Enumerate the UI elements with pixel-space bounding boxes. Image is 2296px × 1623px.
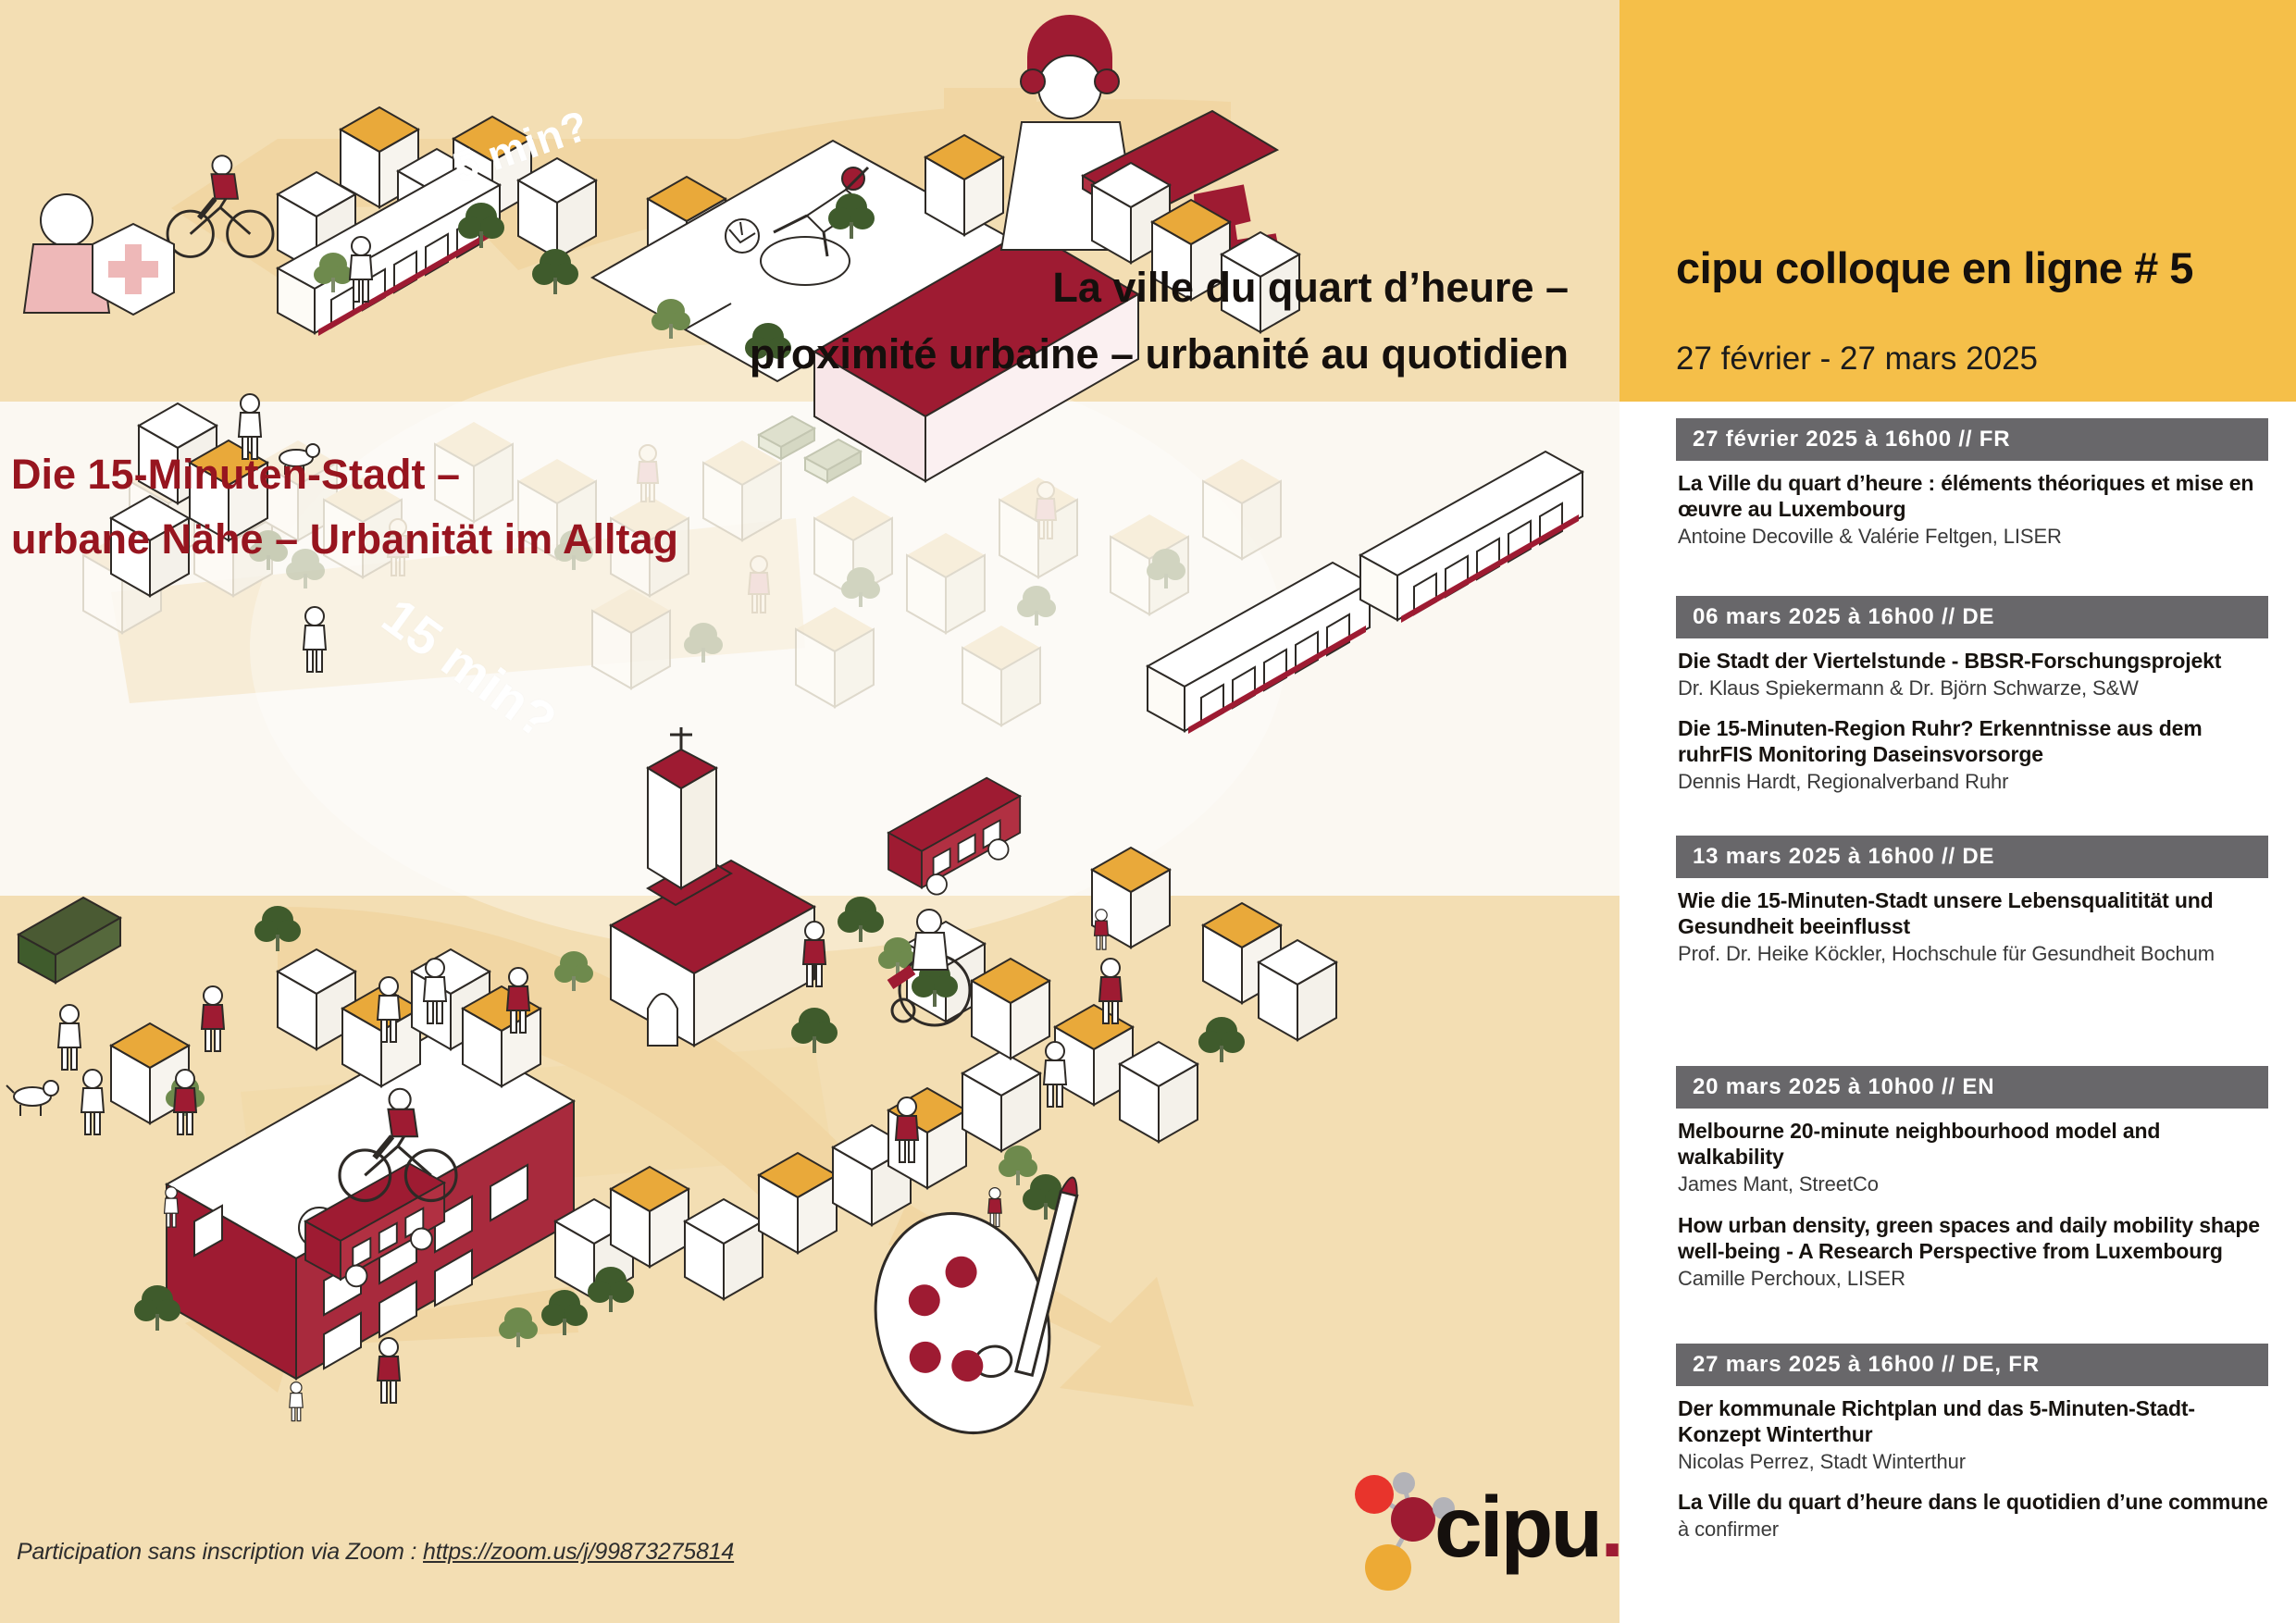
talk-item: Der kommunale Richtplan und das 5-Minute… bbox=[1678, 1395, 2268, 1475]
talk-title: Melbourne 20-minute neighbourhood model … bbox=[1678, 1118, 2268, 1170]
talk-item: Wie die 15-Minuten-Stadt unsere Lebensqu… bbox=[1678, 887, 2268, 967]
cipu-wordmark-name: cipu bbox=[1434, 1479, 1600, 1575]
talk-title: How urban density, green spaces and dail… bbox=[1678, 1212, 2268, 1264]
talk-item: Die 15-Minuten-Region Ruhr? Erkenntnisse… bbox=[1678, 715, 2268, 795]
talk-title: Die 15-Minuten-Region Ruhr? Erkenntnisse… bbox=[1678, 715, 2268, 767]
talk-list: Wie die 15-Minuten-Stadt unsere Lebensqu… bbox=[1676, 878, 2268, 967]
session-block: 20 mars 2025 à 10h00 // ENMelbourne 20-m… bbox=[1676, 1066, 2268, 1343]
session-date-bar: 27 mars 2025 à 16h00 // DE, FR bbox=[1676, 1344, 2268, 1386]
talk-item: La Ville du quart d’heure : éléments thé… bbox=[1678, 470, 2268, 550]
talk-list: La Ville du quart d’heure : éléments thé… bbox=[1676, 461, 2268, 550]
session-date-bar: 27 février 2025 à 16h00 // FR bbox=[1676, 418, 2268, 461]
talk-speaker: Camille Perchoux, LISER bbox=[1678, 1266, 2268, 1292]
session-block: 13 mars 2025 à 16h00 // DEWie die 15-Min… bbox=[1676, 836, 2268, 1067]
talk-list: Der kommunale Richtplan und das 5-Minute… bbox=[1676, 1386, 2268, 1542]
logo-node-maroon bbox=[1391, 1497, 1435, 1542]
talk-title: Wie die 15-Minuten-Stadt unsere Lebensqu… bbox=[1678, 887, 2268, 939]
poster-title-de-line2: urbane Nähe – Urbanität im Alltag bbox=[11, 515, 678, 564]
talk-item: Die Stadt der Viertelstunde - BBSR-Forsc… bbox=[1678, 648, 2268, 701]
zoom-meeting-link[interactable]: https://zoom.us/j/99873275814 bbox=[423, 1539, 734, 1565]
logo-node-orange bbox=[1365, 1544, 1411, 1591]
session-block: 27 mars 2025 à 16h00 // DE, FRDer kommun… bbox=[1676, 1344, 2268, 1542]
poster-title-de-line1: Die 15-Minuten-Stadt – bbox=[11, 451, 460, 499]
session-block: 06 mars 2025 à 16h00 // DEDie Stadt der … bbox=[1676, 596, 2268, 836]
talk-speaker: à confirmer bbox=[1678, 1517, 2268, 1542]
session-spacer bbox=[1676, 981, 2268, 1066]
talk-speaker: Antoine Decoville & Valérie Feltgen, LIS… bbox=[1678, 524, 2268, 550]
talk-title: La Ville du quart d’heure : éléments thé… bbox=[1678, 470, 2268, 522]
talk-speaker: Nicolas Perrez, Stadt Winterthur bbox=[1678, 1449, 2268, 1475]
logo-node-red bbox=[1355, 1475, 1394, 1514]
poster-title-fr-line1: La ville du quart d’heure – bbox=[1052, 264, 1569, 312]
page-title: cipu colloque en ligne # 5 bbox=[1676, 242, 2193, 293]
session-block: 27 février 2025 à 16h00 // FRLa Ville du… bbox=[1676, 418, 2268, 596]
talk-speaker: James Mant, StreetCo bbox=[1678, 1171, 2268, 1197]
participation-note-text: Participation sans inscription via Zoom … bbox=[17, 1539, 423, 1565]
talk-item: Melbourne 20-minute neighbourhood model … bbox=[1678, 1118, 2268, 1197]
cipu-logo[interactable]: cipu.lu bbox=[1347, 1453, 1610, 1605]
talk-speaker: Prof. Dr. Heike Köckler, Hochschule für … bbox=[1678, 941, 2268, 967]
talk-speaker: Dennis Hardt, Regionalverband Ruhr bbox=[1678, 769, 2268, 795]
cipu-wordmark: cipu.lu bbox=[1434, 1484, 1620, 1570]
talk-title: Der kommunale Richtplan und das 5-Minute… bbox=[1678, 1395, 2268, 1447]
programme-list: 27 février 2025 à 16h00 // FRLa Ville du… bbox=[1676, 418, 2268, 1557]
poster-title-fr-line2: proximité urbaine – urbanité au quotidie… bbox=[750, 330, 1569, 378]
header-date-range: 27 février - 27 mars 2025 bbox=[1676, 341, 2038, 378]
session-date-bar: 06 mars 2025 à 16h00 // DE bbox=[1676, 596, 2268, 638]
session-date-bar: 20 mars 2025 à 10h00 // EN bbox=[1676, 1066, 2268, 1109]
talk-list: Melbourne 20-minute neighbourhood model … bbox=[1676, 1109, 2268, 1291]
talk-item: La Ville du quart d’heure dans le quotid… bbox=[1678, 1489, 2268, 1542]
session-date-bar: 13 mars 2025 à 16h00 // DE bbox=[1676, 836, 2268, 878]
talk-item: How urban density, green spaces and dail… bbox=[1678, 1212, 2268, 1292]
isometric-city-illustration bbox=[0, 0, 1620, 1623]
talk-title: La Ville du quart d’heure dans le quotid… bbox=[1678, 1489, 2268, 1515]
talk-speaker: Dr. Klaus Spiekermann & Dr. Björn Schwar… bbox=[1678, 675, 2268, 701]
logo-node-grey-top bbox=[1393, 1472, 1415, 1494]
talk-list: Die Stadt der Viertelstunde - BBSR-Forsc… bbox=[1676, 638, 2268, 795]
session-spacer bbox=[1676, 810, 2268, 836]
poster-illustration-panel: 5 min? 15 min? La ville du quart d’heure… bbox=[0, 0, 1620, 1623]
session-spacer bbox=[1676, 1307, 2268, 1344]
session-spacer bbox=[1676, 564, 2268, 596]
participation-note: Participation sans inscription via Zoom … bbox=[17, 1539, 734, 1566]
programme-column: cipu colloque en ligne # 5 27 février - … bbox=[1620, 0, 2296, 1623]
cipu-wordmark-dot: . bbox=[1600, 1479, 1620, 1575]
talk-title: Die Stadt der Viertelstunde - BBSR-Forsc… bbox=[1678, 648, 2268, 674]
header-block: cipu colloque en ligne # 5 27 février - … bbox=[1620, 0, 2296, 402]
